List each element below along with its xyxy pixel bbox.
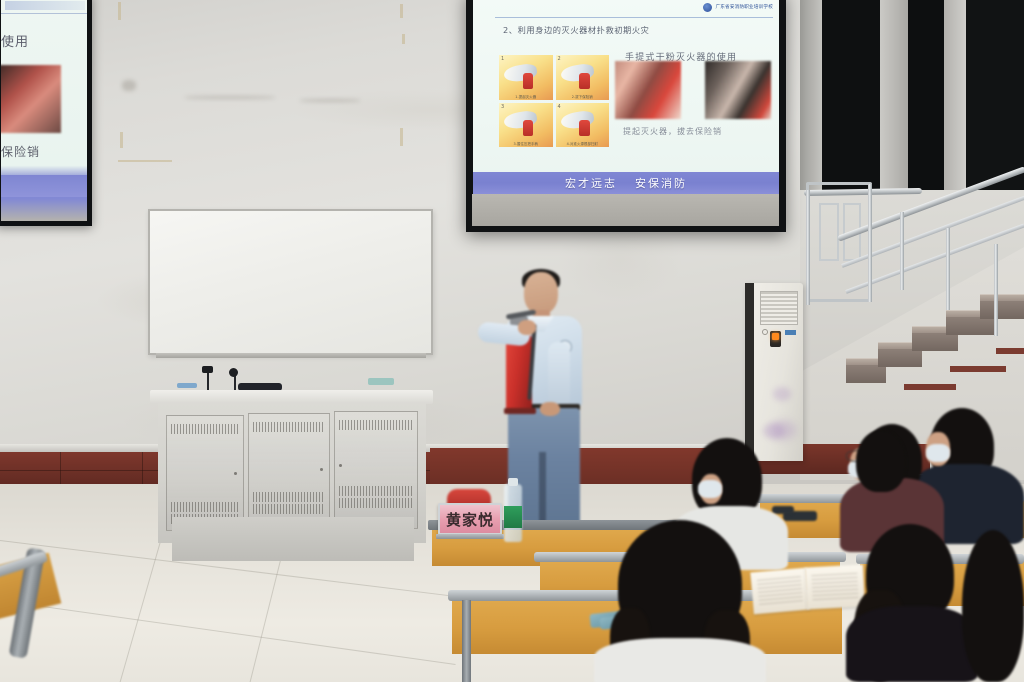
slide-footer-text: 提起灭火器，拔去保险销 — [623, 126, 722, 137]
wall-tape-mark — [400, 4, 403, 18]
hand-illustration — [560, 110, 595, 131]
hand-illustration — [560, 62, 595, 83]
panel-number: 4 — [558, 104, 561, 110]
slide-photo-center — [615, 61, 681, 119]
presenter-left-arm — [548, 342, 570, 408]
microphone-head-secondary — [229, 368, 238, 377]
left-screen-text-bottom: 保险销 — [1, 143, 40, 160]
microphone-stem — [207, 370, 209, 392]
slide-logo: 广东省安消防职业培训学校 — [703, 3, 773, 12]
podium-door-panel — [248, 413, 330, 533]
presenter — [484, 272, 594, 540]
presenter-left-hand — [540, 402, 560, 416]
fire-extinguisher-base — [504, 408, 536, 414]
slide-photo-right — [705, 61, 771, 119]
water-bottle-cap — [508, 478, 518, 486]
whiteboard — [148, 209, 433, 355]
stair-rail-post — [900, 212, 904, 290]
left-screen-rule — [1, 13, 87, 14]
ac-brand-badge — [785, 330, 796, 335]
slide-bottom-banner: 宏才远志 安保消防 — [473, 172, 779, 194]
left-screen-header — [5, 1, 85, 10]
hand-illustration — [503, 62, 538, 83]
panel-caption: 1.提起灭火器 — [499, 94, 553, 99]
wall-pillar — [880, 0, 908, 205]
student-head — [856, 430, 906, 492]
panel-number: 1 — [501, 56, 504, 62]
wall-pillar — [800, 0, 822, 200]
extinguisher-illustration — [523, 73, 534, 89]
microphone-head — [202, 366, 213, 373]
slide-header-rule — [495, 17, 773, 18]
podium-door-panel — [334, 411, 418, 529]
wall-scuff — [300, 99, 360, 102]
stair-rail-post — [994, 244, 998, 336]
wall-tape-mark — [118, 2, 121, 20]
panel-caption: 2.拔下保险销 — [556, 94, 610, 99]
presenter-head — [524, 272, 558, 314]
name-card-stand — [436, 534, 504, 539]
student-head — [962, 530, 1024, 682]
instruction-panel: 2 2.拔下保险销 — [556, 55, 610, 100]
stair-rail-post — [868, 184, 872, 302]
slide-instruction-panels: 1 1.提起灭火器 2 2.拔下保险销 3 3.握住压把手柄 — [499, 55, 609, 147]
presenter-right-hand — [518, 320, 536, 335]
wall-scuff — [185, 96, 275, 99]
left-projection-screen: 使用 保险销 — [0, 0, 92, 226]
wall-tape-mark — [402, 34, 405, 44]
phone-on-desk — [772, 506, 794, 514]
wall-tape-mark — [118, 160, 172, 162]
panel-number: 2 — [558, 56, 561, 62]
podium-door-panel — [166, 415, 244, 531]
ac-brand-icon — [762, 329, 768, 335]
stair-rail-post — [806, 190, 810, 305]
extinguisher-illustration — [579, 73, 590, 89]
left-screen-photo — [1, 65, 61, 133]
presentation-slide: 广东省安消防职业培训学校 2、利用身边的灭火器材扑救初期火灾 手提式干粉灭火器的… — [473, 0, 779, 194]
open-book-right-page — [805, 565, 865, 610]
instruction-panel: 1 1.提起灭火器 — [499, 55, 553, 100]
name-card-text: 黄家悦 — [446, 509, 494, 530]
dark-opening — [822, 0, 880, 200]
student-body — [846, 606, 978, 682]
classroom-scene: 使用 保险销 广东省安消防职业培训学校 2、利用身边的灭火器材扑救初期火灾 手提… — [0, 0, 1024, 682]
wall-tape-mark — [400, 128, 403, 146]
dark-opening — [908, 0, 944, 205]
wall-tape-mark — [120, 132, 123, 148]
podium-top-surface — [150, 390, 433, 404]
whiteboard-marker-tray — [156, 353, 426, 358]
instruction-panel: 3 3.握住压把手柄 — [499, 103, 553, 148]
wall-pillar — [944, 0, 966, 210]
extinguisher-illustration — [579, 120, 590, 136]
podium-item-blue — [177, 383, 197, 388]
panel-number: 3 — [501, 104, 504, 110]
hand-illustration — [503, 110, 538, 131]
school-logo-icon — [703, 3, 712, 12]
ac-vent-grille — [760, 291, 798, 325]
desk-leg — [462, 600, 471, 682]
face-mask — [698, 480, 722, 498]
panel-caption: 4.对准火源根部扫射 — [556, 141, 610, 146]
podium-item-teal — [368, 378, 394, 385]
ac-power-led-icon — [772, 333, 779, 340]
podium-base — [172, 517, 414, 561]
water-bottle-label — [504, 506, 522, 528]
slide-logo-text: 广东省安消防职业培训学校 — [715, 5, 773, 10]
stair-rail-post — [946, 228, 950, 310]
instruction-panel: 4 4.对准火源根部扫射 — [556, 103, 610, 148]
ac-side-panel — [745, 283, 754, 461]
banner-text-right: 安保消防 — [635, 175, 687, 191]
student-body — [594, 638, 766, 682]
ac-surface-stain — [773, 387, 791, 401]
main-projection-screen: 广东省安消防职业培训学校 2、利用身边的灭火器材扑救初期火灾 手提式干粉灭火器的… — [466, 0, 786, 232]
slide-heading: 2、利用身边的灭火器材扑救初期火灾 — [503, 24, 649, 36]
panel-caption: 3.握住压把手柄 — [499, 141, 553, 146]
wall-scuff — [122, 80, 136, 91]
extinguisher-illustration — [523, 120, 534, 136]
open-book-left-page — [750, 568, 809, 615]
left-screen-banner — [1, 175, 87, 197]
screen-lower-blank — [472, 194, 779, 226]
wall-purple-stain — [770, 420, 796, 440]
banner-text-left: 宏才远志 — [565, 175, 617, 191]
face-mask — [926, 444, 950, 462]
name-card: 黄家悦 — [438, 503, 502, 535]
left-screen-text-top: 使用 — [1, 31, 29, 50]
